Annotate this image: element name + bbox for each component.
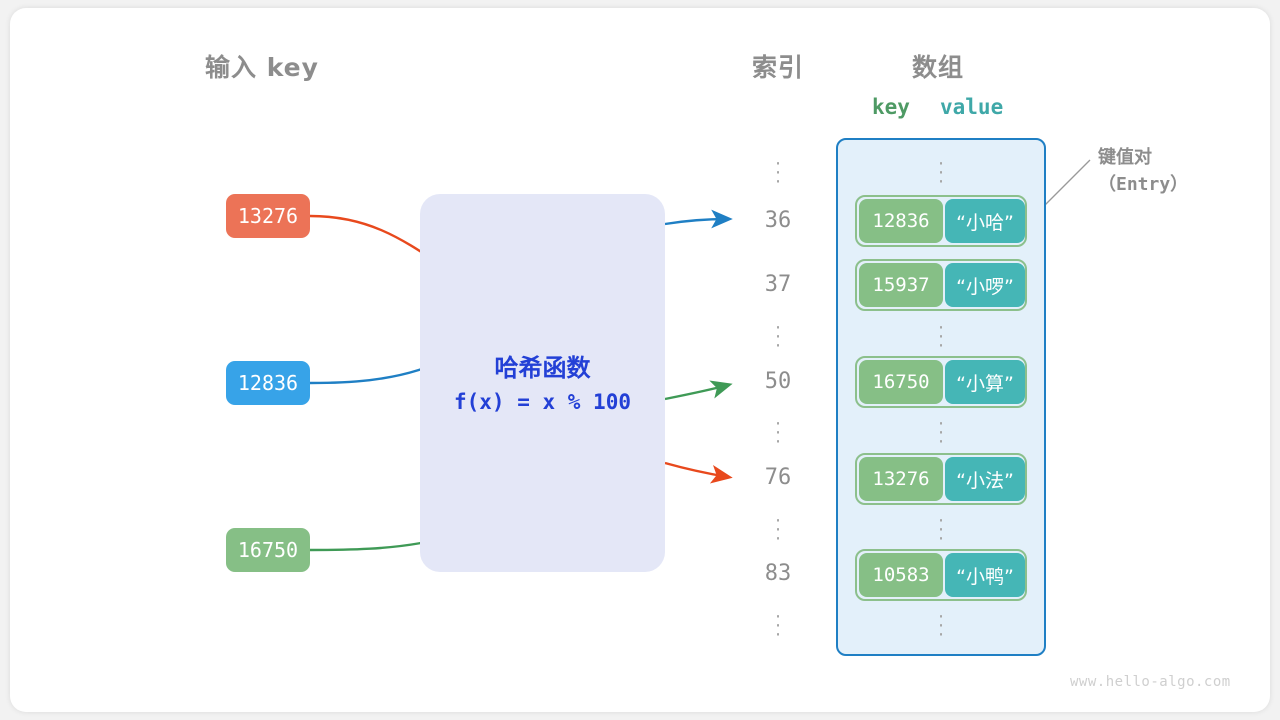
index-ellipsis: ··· xyxy=(740,613,816,640)
table-row[interactable]: 15937 “小啰” xyxy=(855,259,1027,311)
entry-key: 16750 xyxy=(859,360,943,404)
table-row[interactable]: 10583 “小鸭” xyxy=(855,549,1027,601)
index-value-76: 76 xyxy=(740,465,816,490)
entry-key: 10583 xyxy=(859,553,943,597)
table-row[interactable]: 16750 “小算” xyxy=(855,356,1027,408)
entry-key: 12836 xyxy=(859,199,943,243)
index-value-36: 36 xyxy=(740,208,816,233)
entry-value: “小啰” xyxy=(945,263,1025,307)
heading-array: 数组 xyxy=(912,48,964,84)
column-header-value: value xyxy=(940,95,1003,119)
entry-annotation: 键值对 （Entry） xyxy=(1098,144,1258,198)
entry-value: “小法” xyxy=(945,457,1025,501)
array-ellipsis: ··· xyxy=(836,517,1046,544)
input-key-box-16750[interactable]: 16750 xyxy=(226,528,310,572)
entry-key: 13276 xyxy=(859,457,943,501)
index-value-83: 83 xyxy=(740,561,816,586)
entry-value: “小鸭” xyxy=(945,553,1025,597)
array-ellipsis: ··· xyxy=(836,613,1046,640)
table-row[interactable]: 13276 “小法” xyxy=(855,453,1027,505)
hash-function-title: 哈希函数 xyxy=(420,348,665,383)
entry-annotation-line1: 键值对 xyxy=(1098,144,1258,171)
table-row[interactable]: 12836 “小哈” xyxy=(855,195,1027,247)
input-key-box-12836[interactable]: 12836 xyxy=(226,361,310,405)
index-ellipsis: ··· xyxy=(740,160,816,187)
array-ellipsis: ··· xyxy=(836,160,1046,187)
input-key-box-13276[interactable]: 13276 xyxy=(226,194,310,238)
index-ellipsis: ··· xyxy=(740,324,816,351)
array-ellipsis: ··· xyxy=(836,420,1046,447)
column-header-key: key xyxy=(872,95,910,119)
hash-function-formula: f(x) = x % 100 xyxy=(420,390,665,414)
figure-root: 输入 key 索引 数组 key value 13276 12836 16750… xyxy=(0,0,1280,720)
entry-value: “小哈” xyxy=(945,199,1025,243)
array-ellipsis: ··· xyxy=(836,324,1046,351)
entry-annotation-line2: （Entry） xyxy=(1098,171,1258,198)
index-ellipsis: ··· xyxy=(740,517,816,544)
entry-key: 15937 xyxy=(859,263,943,307)
heading-input-key: 输入 key xyxy=(205,48,319,84)
index-value-50: 50 xyxy=(740,369,816,394)
index-value-37: 37 xyxy=(740,272,816,297)
watermark: www.hello-algo.com xyxy=(1070,674,1231,690)
entry-value: “小算” xyxy=(945,360,1025,404)
index-ellipsis: ··· xyxy=(740,420,816,447)
hash-function-box xyxy=(420,194,665,572)
heading-index: 索引 xyxy=(752,48,804,84)
